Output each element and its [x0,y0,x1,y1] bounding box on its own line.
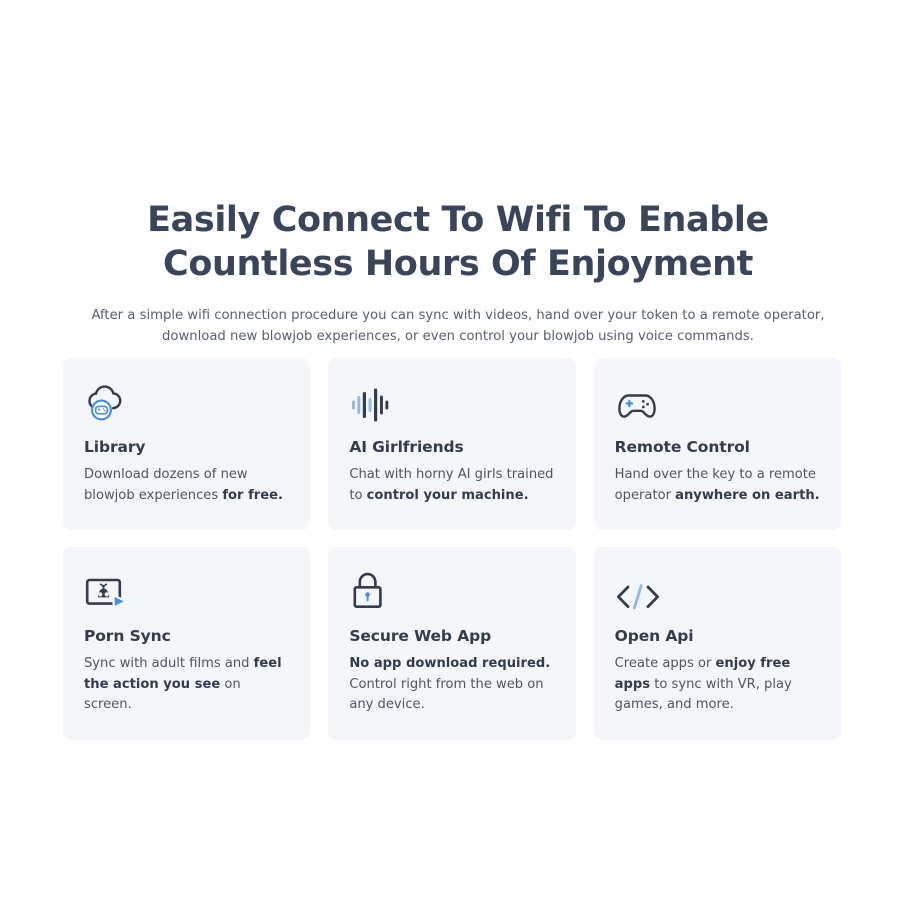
feature-card-grid: Library Download dozens of new blowjob e… [63,358,841,740]
card-description: Download dozens of new blowjob experienc… [84,465,289,506]
padlock-icon [349,569,554,613]
card-description: Sync with adult films and feel the actio… [84,654,289,716]
card-description: No app download required. Control right … [349,654,554,716]
feature-section-page: Easily Connect To Wifi To Enable Countle… [0,0,916,916]
feature-card-porn-sync[interactable]: Porn Sync Sync with adult films and feel… [63,547,310,740]
feature-card-open-api[interactable]: Open Api Create apps or enjoy free apps … [594,547,841,740]
card-title: Open Api [615,627,820,645]
card-description: Hand over the key to a remote operator a… [615,465,820,506]
section-subtitle: After a simple wifi connection procedure… [73,305,843,347]
card-title: Porn Sync [84,627,289,645]
code-brackets-icon [615,569,820,613]
feature-card-library[interactable]: Library Download dozens of new blowjob e… [63,358,310,530]
voice-waveform-icon [349,380,554,424]
feature-card-secure-web-app[interactable]: Secure Web App No app download required.… [328,547,575,740]
card-title: Remote Control [615,438,820,456]
gamepad-icon [615,380,820,424]
section-header: Easily Connect To Wifi To Enable Countle… [0,198,916,347]
card-description: Create apps or enjoy free apps to sync w… [615,654,820,716]
cloud-gamepad-icon [84,380,289,424]
video-play-screen-icon [84,569,289,613]
card-title: Library [84,438,289,456]
feature-card-ai-girlfriends[interactable]: AI Girlfriends Chat with horny AI girls … [328,358,575,530]
feature-card-remote-control[interactable]: Remote Control Hand over the key to a re… [594,358,841,530]
card-title: AI Girlfriends [349,438,554,456]
card-description: Chat with horny AI girls trained to cont… [349,465,554,506]
page-title: Easily Connect To Wifi To Enable Countle… [88,198,828,286]
card-title: Secure Web App [349,627,554,645]
